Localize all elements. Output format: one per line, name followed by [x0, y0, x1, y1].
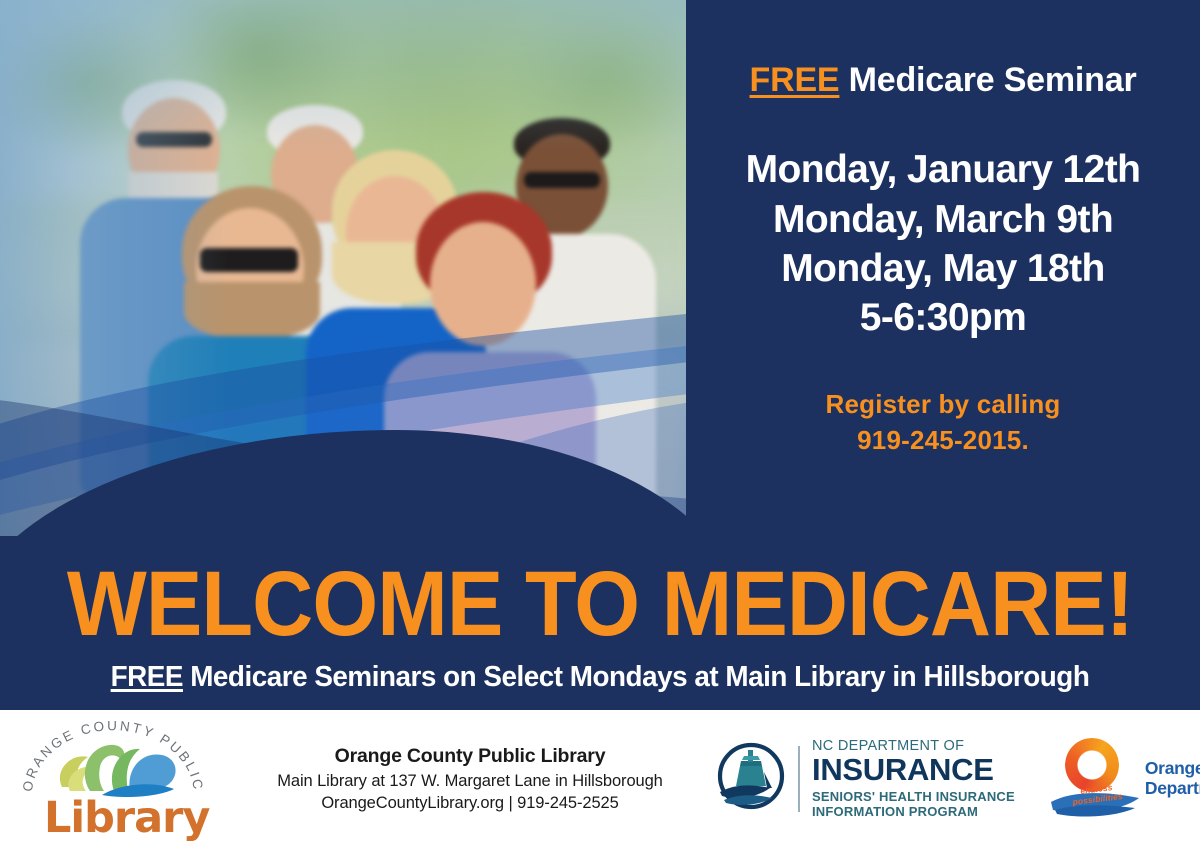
free-badge-white: FREE [111, 661, 183, 693]
aging-ring-mark-icon: endless possibilities [1049, 734, 1141, 824]
shiip-line-department: NC DEPARTMENT OF [812, 739, 1015, 754]
seminar-date-2: Monday, March 9th [686, 195, 1200, 244]
library-address: Main Library at 137 W. Margaret Lane in … [270, 772, 670, 791]
shiip-logo-divider [798, 746, 800, 812]
department-on-aging-logo: endless possibilities Orange County Depa… [1049, 734, 1200, 824]
seminar-time: 5-6:30pm [686, 293, 1200, 342]
seminar-details-column: FREE Medicare Seminar Monday, January 12… [686, 0, 1200, 536]
aging-wordmark: Orange County Department on Aging [1145, 759, 1200, 798]
shiip-line-program: INFORMATION PROGRAM [812, 804, 1015, 819]
headline-subtitle-rest: Medicare Seminars on Select Mondays at M… [183, 661, 1089, 693]
medicare-seminar-flyer: FREE Medicare Seminar Monday, January 12… [0, 0, 1200, 848]
ship-emblem-icon [712, 740, 790, 818]
orange-county-library-logo: ORANGE COUNTY PUBLIC Library [18, 719, 218, 839]
shiip-line-insurance: INSURANCE [812, 754, 1015, 787]
seminar-dates-list: Monday, January 12th Monday, March 9th M… [686, 145, 1200, 342]
seminar-heading-rest: Medicare Seminar [839, 61, 1136, 99]
shiip-line-seniors: SENIORS' HEALTH INSURANCE [812, 789, 1015, 804]
library-web-and-phone[interactable]: OrangeCountyLibrary.org | 919-245-2525 [270, 794, 670, 813]
main-headline: WELCOME TO MEDICARE! [48, 558, 1152, 650]
free-badge-orange: FREE [750, 61, 840, 99]
register-phone-number[interactable]: 919-245-2015. [686, 422, 1200, 458]
seniors-walking-photo [0, 0, 686, 536]
aging-line-orange-county: Orange County [1145, 759, 1200, 779]
aging-line-department: Department on Aging [1145, 779, 1200, 799]
register-instruction: Register by calling [686, 386, 1200, 422]
seminar-date-1: Monday, January 12th [686, 145, 1200, 194]
library-name: Orange County Public Library [270, 745, 670, 768]
library-logo-wordmark: Library [44, 793, 209, 843]
free-medicare-seminar-heading: FREE Medicare Seminar [686, 62, 1200, 99]
register-callout: Register by calling 919-245-2015. [686, 386, 1200, 459]
shiip-wordmark: NC DEPARTMENT OF INSURANCE SENIORS' HEAL… [812, 739, 1015, 820]
headline-band: WELCOME TO MEDICARE! FREE Medicare Semin… [0, 536, 1200, 708]
library-contact-info: Orange County Public Library Main Librar… [270, 745, 670, 813]
headline-subtitle: FREE Medicare Seminars on Select Mondays… [24, 661, 1176, 694]
footer-bar: ORANGE COUNTY PUBLIC Library Orange Coun… [0, 710, 1200, 848]
ncdoi-shiip-logo: NC DEPARTMENT OF INSURANCE SENIORS' HEAL… [712, 739, 1015, 820]
library-logo-arc-and-leaves: ORANGE COUNTY PUBLIC [18, 721, 208, 801]
seminar-date-3: Monday, May 18th [686, 244, 1200, 293]
